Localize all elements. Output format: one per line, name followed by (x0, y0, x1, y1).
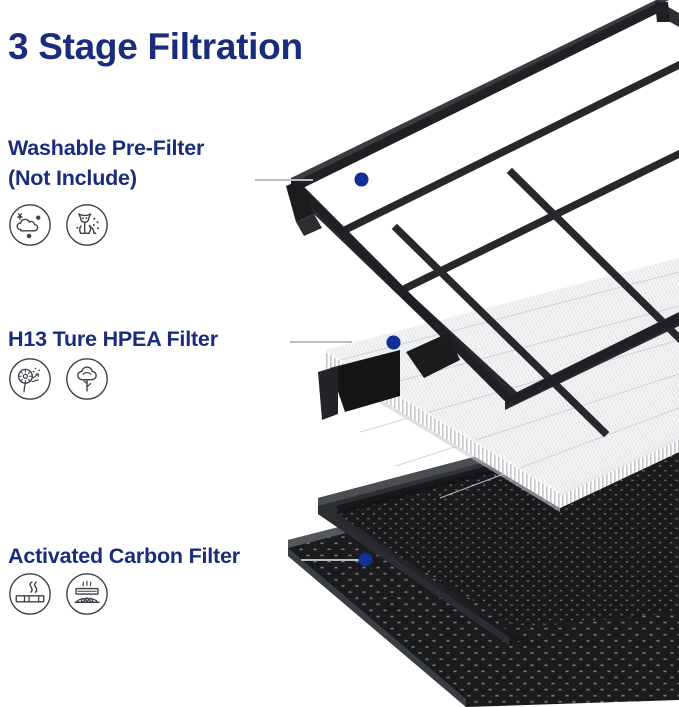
marker-dot-pre-filter (355, 173, 368, 186)
dandelion-pollen-icon (8, 357, 52, 401)
dust-particles-icon (8, 203, 52, 247)
stage-label-pre-filter-line1: Washable Pre-Filter (8, 133, 204, 163)
infographic-canvas: 3 Stage Filtration Washable Pre-Filter (… (0, 0, 679, 707)
marker-dot-hepa-filter (387, 336, 400, 349)
stage-label-carbon-filter-line1: Activated Carbon Filter (8, 542, 240, 571)
stage-label-hepa-filter: H13 Ture HPEA Filter (8, 325, 218, 354)
stage-label-carbon-filter: Activated Carbon Filter (8, 542, 240, 571)
pet-dander-icon (65, 203, 109, 247)
stage-icons-pre-filter (8, 203, 109, 247)
stage-label-hepa-filter-line1: H13 Ture HPEA Filter (8, 325, 218, 354)
cooking-odor-icon (65, 572, 109, 616)
stage-label-pre-filter: Washable Pre-Filter (Not Include) (8, 133, 204, 193)
leader-line-hepa-filter (290, 341, 352, 343)
leader-line-carbon-filter (301, 559, 363, 561)
leader-line-pre-filter (255, 179, 313, 181)
cigarette-smoke-icon (8, 572, 52, 616)
page-title: 3 Stage Filtration (8, 26, 303, 68)
stage-label-pre-filter-line2: (Not Include) (8, 163, 204, 193)
marker-dot-carbon-filter (359, 553, 372, 566)
stage-icons-hepa-filter (8, 357, 109, 401)
stage-icons-carbon-filter (8, 572, 109, 616)
tree-pollen-icon (65, 357, 109, 401)
